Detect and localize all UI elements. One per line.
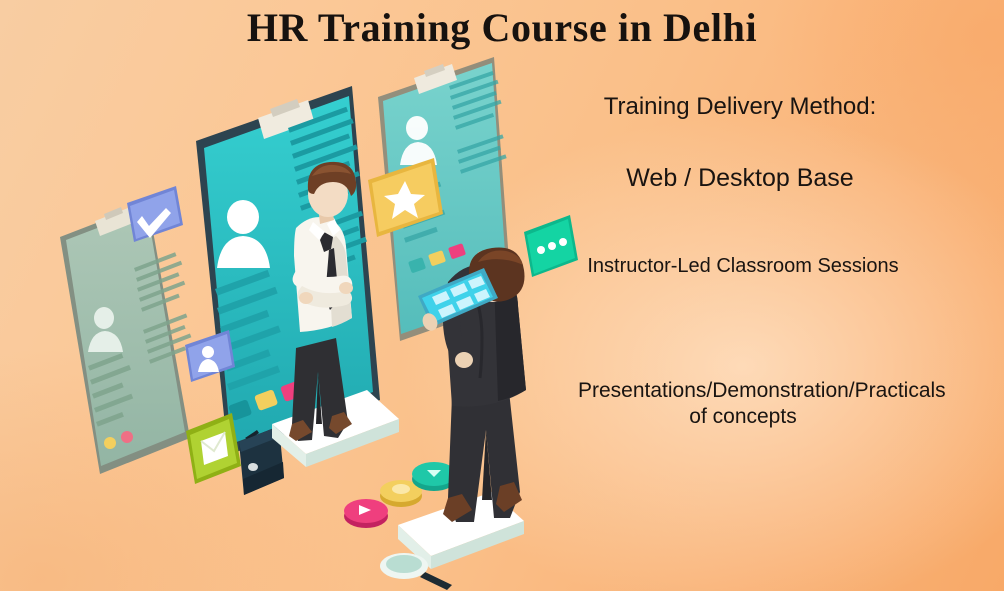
hr-illustration [0, 0, 620, 591]
isometric-illustration-svg [0, 0, 620, 591]
slide-canvas: HR Training Course in Delhi Training Del… [0, 0, 1004, 591]
delivery-method-web-desktop: Web / Desktop Base [540, 163, 940, 195]
mail-badge [186, 413, 241, 484]
training-delivery-method-label: Training Delivery Method: [540, 92, 940, 122]
page-title: HR Training Course in Delhi [0, 6, 1004, 50]
delivery-method-instructor-led: Instructor-Led Classroom Sessions [578, 254, 908, 279]
delivery-method-presentations: Presentations/Demonstration/Practicals o… [578, 378, 908, 431]
check-badge [127, 186, 183, 242]
chip-pink [344, 499, 388, 528]
chat-badge [524, 215, 578, 277]
sage-resume-card [60, 203, 191, 474]
